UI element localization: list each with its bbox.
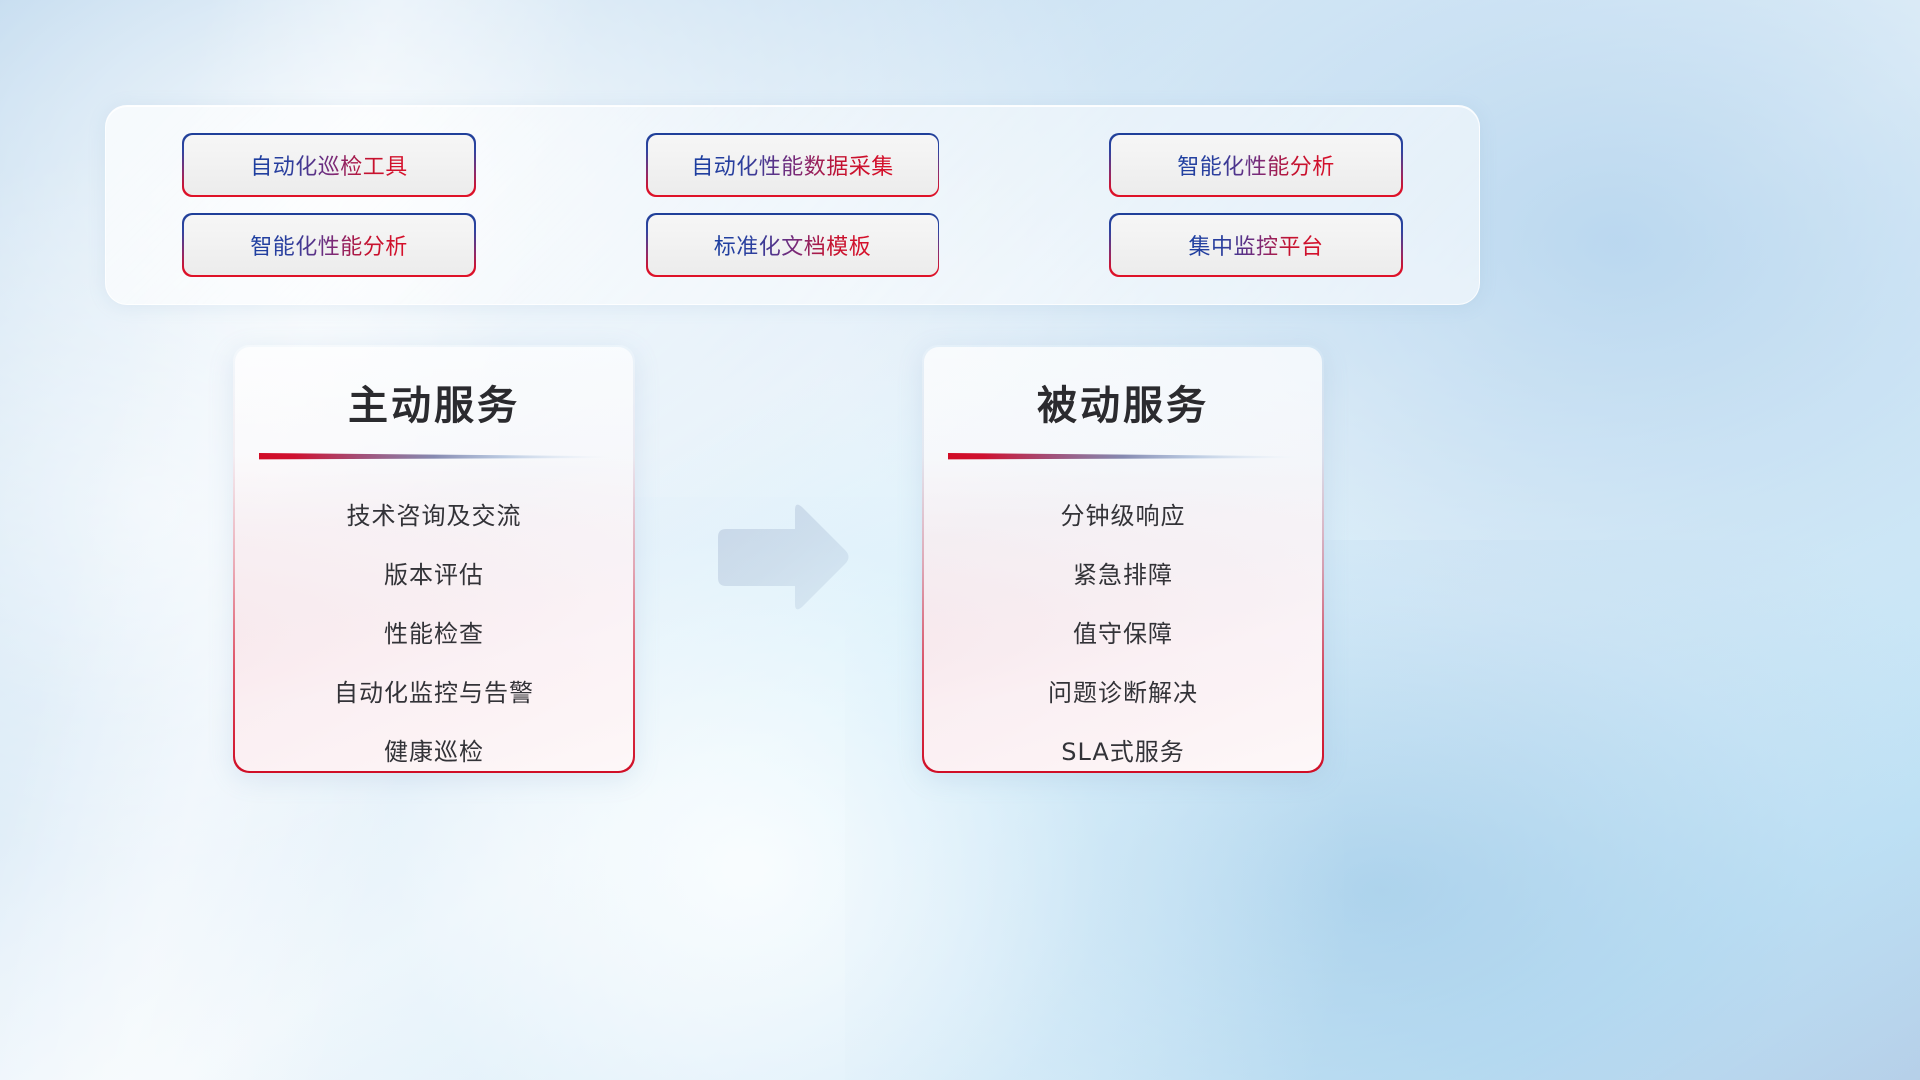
card-body: 主动服务 [235,347,634,772]
tag-centralized-monitoring-platform[interactable]: 集中监控平台 [1111,215,1401,275]
tag-auto-inspection-tool[interactable]: 自动化巡检工具 [184,135,474,195]
tag-row-2: 智能化性能分析 标准化文档模板 集中监控平台 [184,215,1401,275]
card-list: 分钟级响应 紧急排障 值守保障 问题诊断解决 SLA式服务 [924,487,1323,772]
list-item: 版本评估 [384,546,484,605]
arrow-right-icon [712,500,852,615]
list-item: 技术咨询及交流 [347,487,522,546]
tag-label: 自动化巡检工具 [250,149,408,181]
tag-row-1: 自动化巡检工具 自动化性能数据采集 智能化性能分析 [184,135,1401,195]
card-reactive-service: 被动服务 [922,345,1324,773]
tag-auto-performance-data-collection[interactable]: 自动化性能数据采集 [648,135,938,195]
tag-label: 智能化性能分析 [250,229,408,261]
list-item: SLA式服务 [1061,723,1185,772]
list-item: 值守保障 [1073,605,1173,664]
tag-label: 自动化性能数据采集 [691,149,894,181]
list-item: 自动化监控与告警 [334,664,534,723]
list-item: 问题诊断解决 [1048,664,1198,723]
list-item: 紧急排障 [1073,546,1173,605]
card-body: 被动服务 [924,347,1323,772]
list-item: 健康巡检 [384,723,484,772]
card-proactive-service: 主动服务 [233,345,635,773]
capability-tag-panel: 自动化巡检工具 自动化性能数据采集 智能化性能分析 智能化性能分析 标准化文档模… [105,105,1480,305]
tag-label: 标准化文档模板 [714,229,872,261]
title-divider-right [948,449,1298,465]
tag-intelligent-performance-analysis-top[interactable]: 智能化性能分析 [1111,135,1401,195]
tag-intelligent-performance-analysis[interactable]: 智能化性能分析 [184,215,474,275]
title-divider-left [259,449,609,465]
card-title: 主动服务 [348,373,520,431]
card-title: 被动服务 [1037,373,1209,431]
tag-label: 集中监控平台 [1188,229,1323,261]
list-item: 性能检查 [384,605,484,664]
list-item: 分钟级响应 [1061,487,1186,546]
card-list: 技术咨询及交流 版本评估 性能检查 自动化监控与告警 健康巡检 [235,487,634,772]
tag-standard-document-template[interactable]: 标准化文档模板 [648,215,938,275]
tag-label: 智能化性能分析 [1177,149,1335,181]
